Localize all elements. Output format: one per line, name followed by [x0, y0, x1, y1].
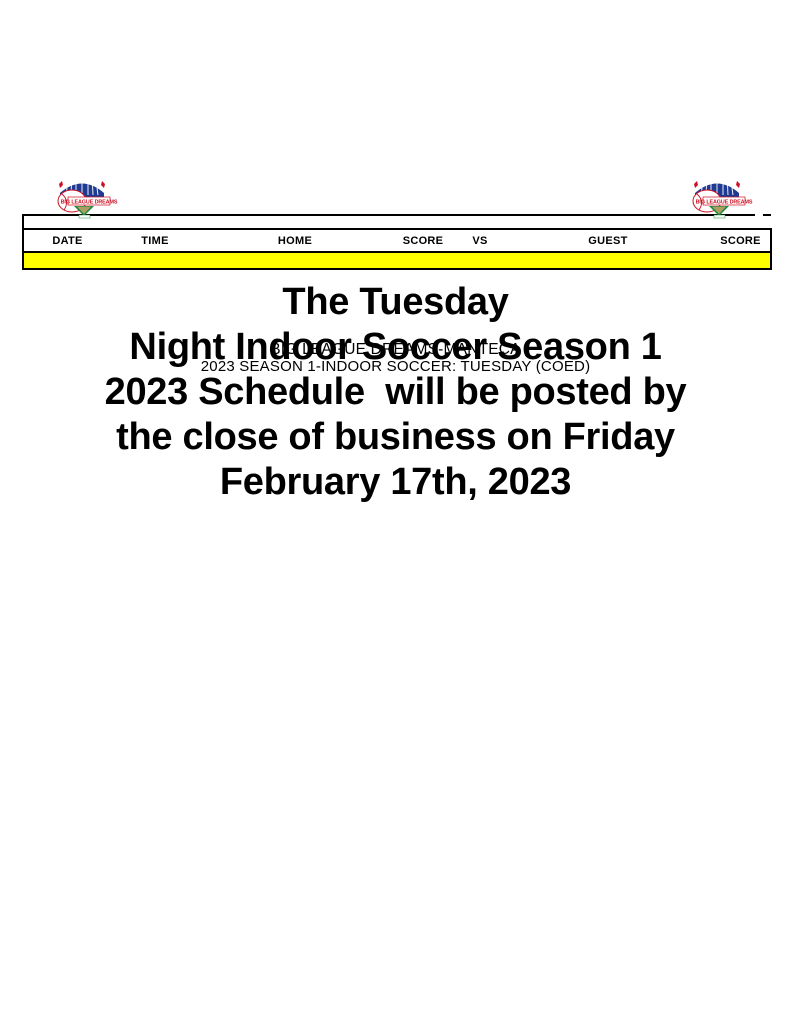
- table-header-row: DATE TIME HOME SCORE VS GUEST SCORE: [23, 229, 771, 252]
- svg-text:BIG LEAGUE DREAMS: BIG LEAGUE DREAMS: [696, 199, 753, 205]
- cell-vs: [455, 252, 505, 269]
- cell-guest: [505, 252, 711, 269]
- notice-line-3: 2023 Schedule will be posted by: [60, 370, 731, 415]
- big-league-dreams-logo-left-icon: BIG LEAGUE DREAMS: [46, 173, 118, 219]
- column-header-date: DATE: [23, 229, 111, 252]
- header-divider-rule: [22, 214, 771, 216]
- column-header-home: HOME: [199, 229, 391, 252]
- column-header-guest: GUEST: [505, 229, 711, 252]
- schedule-notice-message: The Tuesday Night Indoor Soccer Season 1…: [60, 280, 731, 505]
- cell-date: [23, 252, 111, 269]
- cell-score-home: [391, 252, 455, 269]
- cell-score-guest: [711, 252, 771, 269]
- schedule-document-page: BIG LEAGUE DREAMS-MANTECA 2023 SEASON 1-…: [0, 0, 791, 1024]
- column-header-time: TIME: [111, 229, 199, 252]
- column-header-score-home: SCORE: [391, 229, 455, 252]
- notice-line-1: The Tuesday: [60, 280, 731, 325]
- header-divider-right-gap: [755, 210, 763, 220]
- notice-line-4: the close of business on Friday: [60, 415, 731, 460]
- column-header-score-guest: SCORE: [711, 229, 771, 252]
- svg-text:BIG LEAGUE DREAMS: BIG LEAGUE DREAMS: [61, 199, 118, 205]
- notice-line-5: February 17th, 2023: [60, 460, 731, 505]
- schedule-table: DATE TIME HOME SCORE VS GUEST SCORE: [22, 228, 772, 270]
- cell-time: [111, 252, 199, 269]
- big-league-dreams-logo-right-icon: BIG LEAGUE DREAMS: [681, 173, 753, 219]
- notice-line-2: Night Indoor Soccer Season 1: [60, 325, 731, 370]
- cell-home: [199, 252, 391, 269]
- header-divider-left-tick: [22, 214, 24, 228]
- column-header-vs: VS: [455, 229, 505, 252]
- table-row: [23, 252, 771, 269]
